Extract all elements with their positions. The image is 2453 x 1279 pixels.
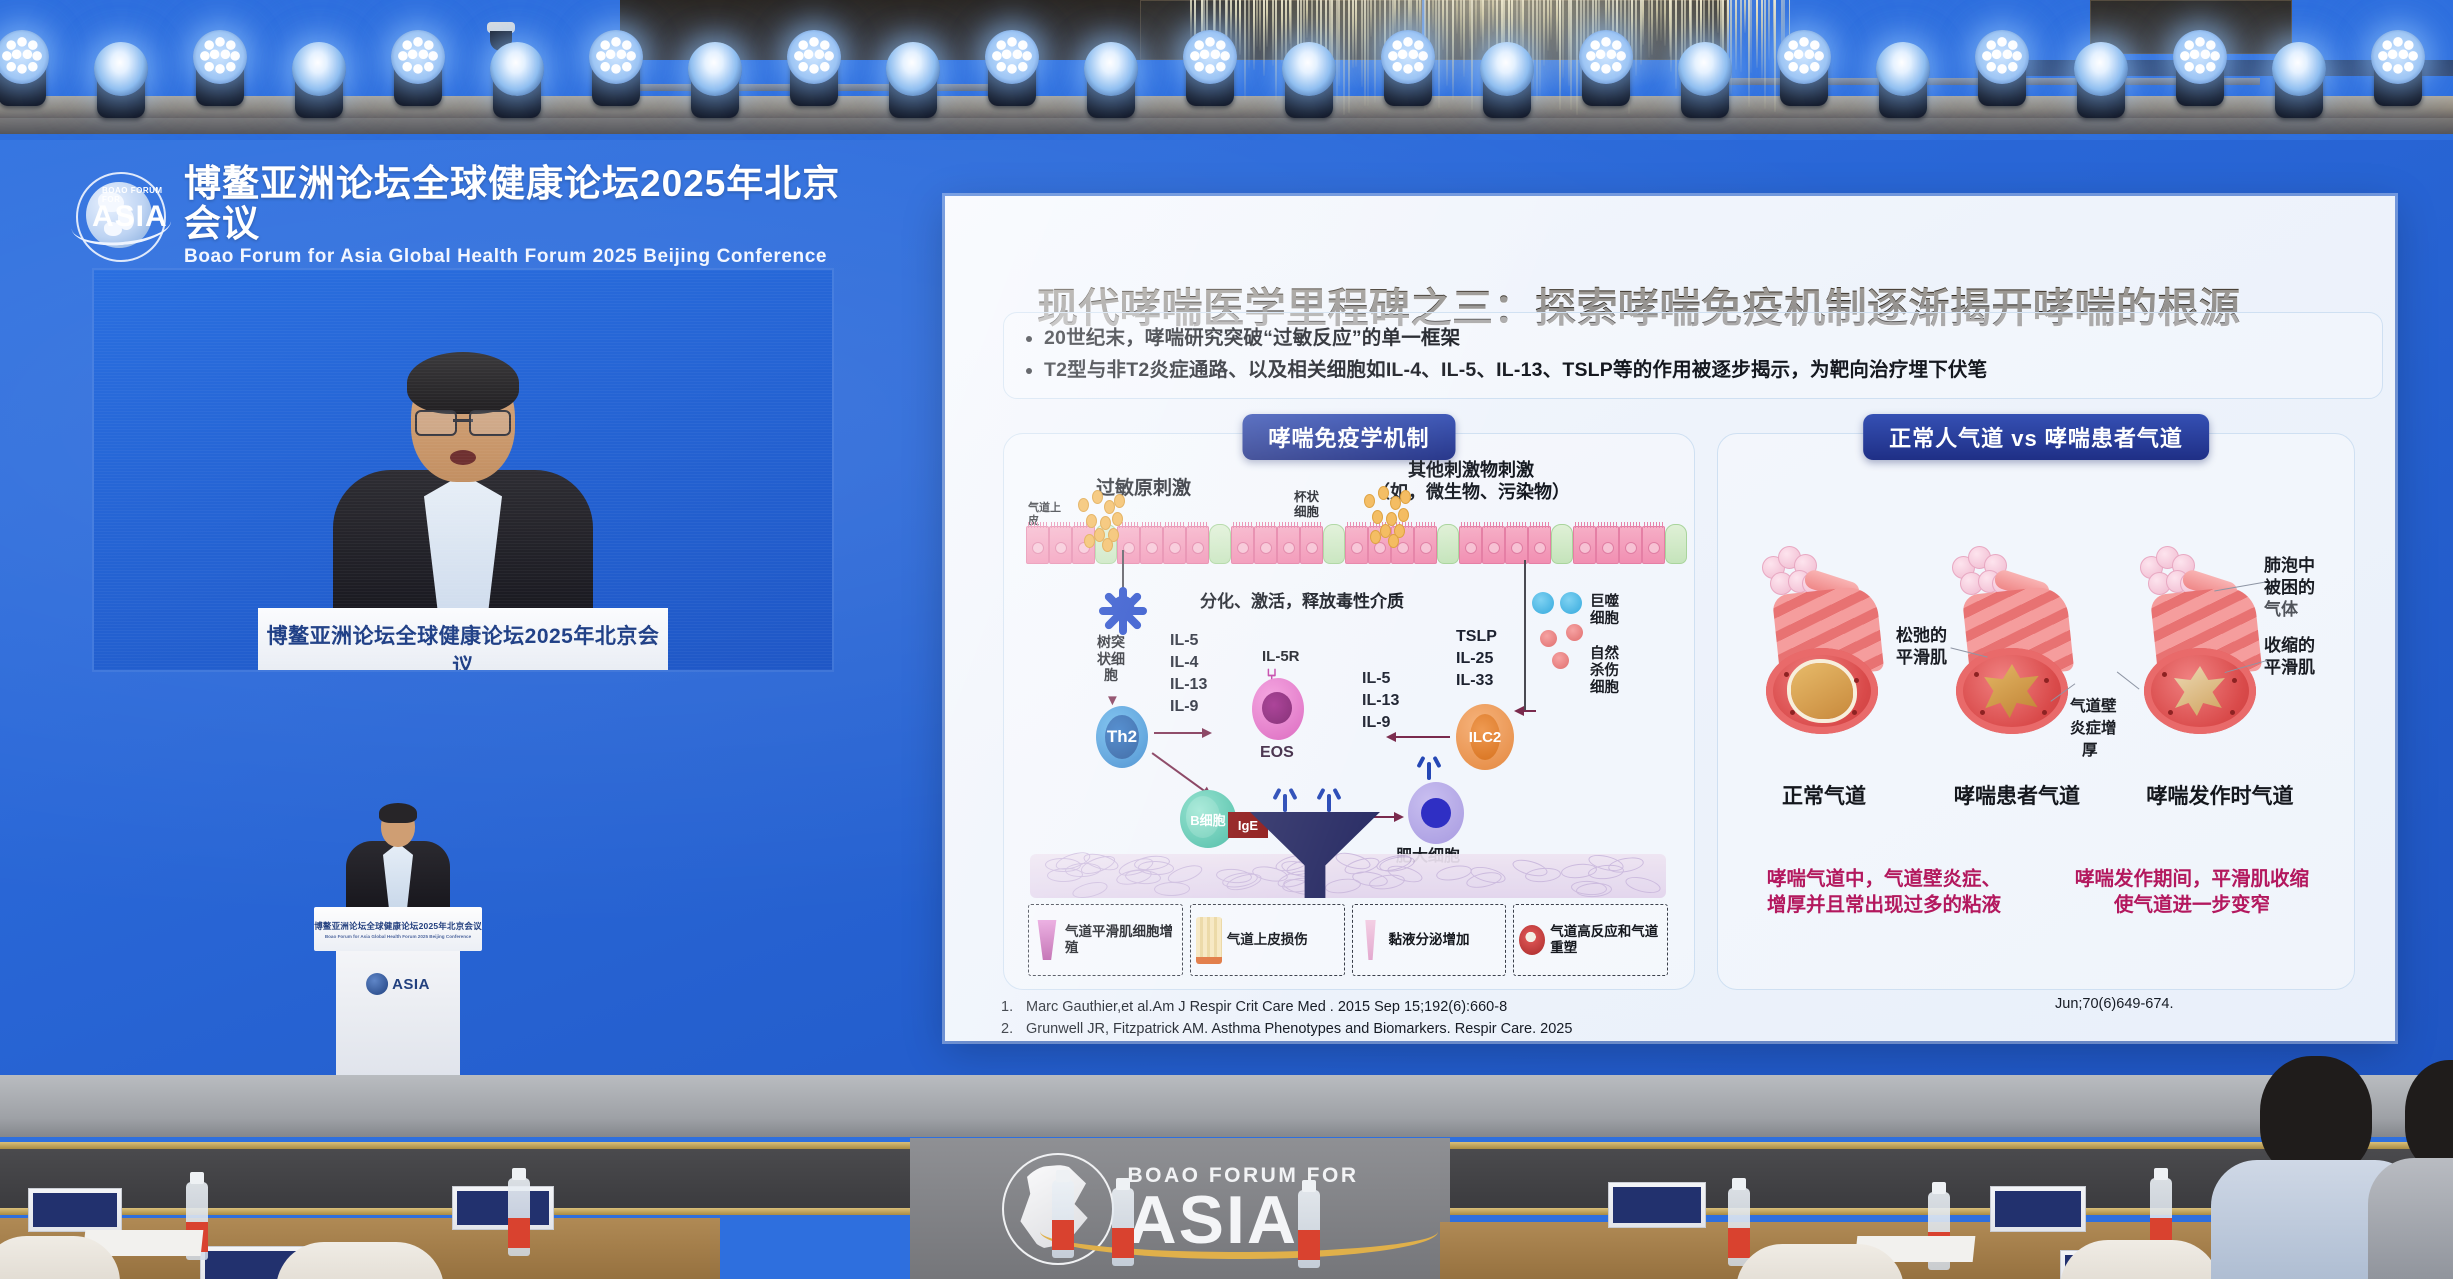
stage-light-spot	[1081, 34, 1141, 118]
water-bottle	[1112, 1188, 1134, 1266]
water-bottle	[508, 1178, 530, 1256]
stage-light-led-array	[0, 22, 52, 106]
ceiling-soffit-lower	[0, 118, 2453, 134]
conference-photo: BOAO FORUM FOR ASIA 博鳌亚洲论坛全球健康论坛2025年北京会…	[0, 0, 2453, 1279]
water-bottle	[1052, 1180, 1074, 1258]
stage-light-spot	[2269, 34, 2329, 118]
stage-light-led-array	[784, 22, 844, 106]
stage-light-spot	[487, 34, 547, 118]
name-card	[28, 1188, 122, 1232]
stage-front-logo: BOAO FORUM FOR ASIA	[910, 1138, 1450, 1279]
backdrop-header: BOAO FORUM FOR ASIA 博鳌亚洲论坛全球健康论坛2025年北京会…	[74, 166, 874, 266]
audience-person	[2378, 1060, 2453, 1279]
stage-podium-sign-en: Boao Forum for Asia Global Health Forum …	[314, 934, 482, 939]
stage-light-led-array	[586, 22, 646, 106]
audience-chair	[2060, 1240, 2220, 1279]
stage-light-led-array	[1972, 22, 2032, 106]
stage-light-led-array	[1378, 22, 1438, 106]
stage-light-led-array	[1180, 22, 1240, 106]
stage-floor	[0, 1075, 2453, 1137]
stage-light-spot	[91, 34, 151, 118]
podium-asia-logo-icon: ASIA	[366, 973, 430, 995]
speaker-video-feed: 博鳌亚洲论坛全球健康论坛2025年北京会议 Boao Forum for Asi…	[94, 270, 832, 670]
stage-light-spot	[1675, 34, 1735, 118]
desk-rail	[0, 1142, 910, 1149]
name-card	[452, 1186, 554, 1230]
stage-light-led-array	[1576, 22, 1636, 106]
audience-chair	[276, 1242, 444, 1279]
stage-speaker: 博鳌亚洲论坛全球健康论坛2025年北京会议 Boao Forum for Asi…	[248, 785, 548, 1085]
boao-forum-logo-icon: BOAO FORUM FOR ASIA	[74, 170, 166, 262]
stage-light-led-array	[982, 22, 1042, 106]
stage-light-led-array	[2170, 22, 2230, 106]
header-title-en: Boao Forum for Asia Global Health Forum …	[184, 246, 874, 268]
stage-light-spot	[1873, 34, 1933, 118]
stage-light-spot	[289, 34, 349, 118]
stage-light-led-array	[388, 22, 448, 106]
presentation-slide: 现代哮喘医学里程碑之三：探索哮喘免疫机制逐渐揭开哮喘的根源 20世纪末，哮喘研究…	[945, 196, 2395, 1041]
name-card	[1990, 1186, 2086, 1232]
stage-podium: 博鳌亚洲论坛全球健康论坛2025年北京会议 Boao Forum for Asi…	[322, 907, 474, 1083]
water-bottle	[1298, 1190, 1320, 1268]
stage-light-spot	[685, 34, 745, 118]
stage-light-spot	[1477, 34, 1537, 118]
water-bottle	[1728, 1188, 1750, 1266]
stage-light-spot	[2071, 34, 2131, 118]
header-title-cn: 博鳌亚洲论坛全球健康论坛2025年北京会议	[184, 164, 874, 242]
stage-podium-sign-cn: 博鳌亚洲论坛全球健康论坛2025年北京会议	[314, 920, 482, 932]
stage-light-led-array	[190, 22, 250, 106]
stage-light-led-array	[2368, 22, 2428, 106]
stage-light-spot	[883, 34, 943, 118]
stage-light-led-array	[1774, 22, 1834, 106]
audience-chair	[1736, 1244, 1904, 1279]
name-card	[1608, 1182, 1706, 1228]
stage-light-spot	[1279, 34, 1339, 118]
